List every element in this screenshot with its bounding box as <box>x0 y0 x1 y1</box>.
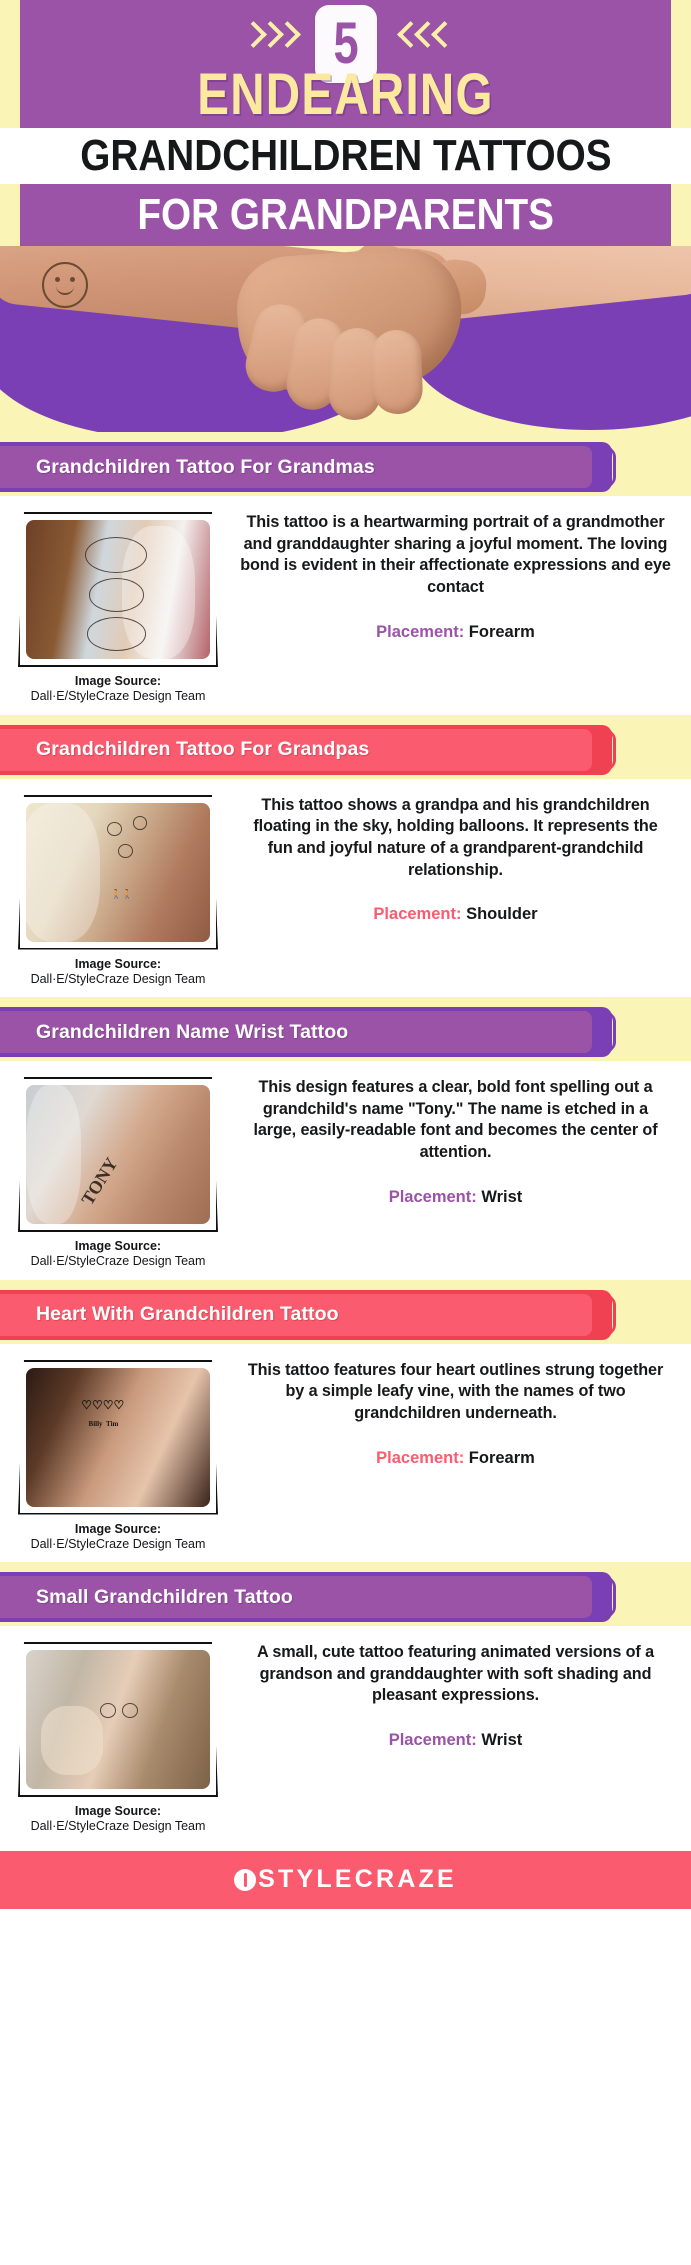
ribbon-tail-icon <box>592 442 616 492</box>
title-line-3-band: FOR GRANDPARENTS <box>20 184 671 246</box>
section-2-description: This tattoo shows a grandpa and his gran… <box>240 795 671 882</box>
handshake-illustration <box>0 246 691 432</box>
section-3-placement-value: Wrist <box>481 1188 522 1206</box>
infographic-page: 5 ENDEARING GRANDCHILDREN TATTOOS FOR GR… <box>0 0 691 2265</box>
section-5-text-column: A small, cute tattoo featuring animated … <box>232 1642 691 1750</box>
ribbon-tail-icon <box>592 1290 616 1340</box>
ribbon-tail-icon <box>592 1572 616 1622</box>
title-line-2: GRANDCHILDREN TATTOOS <box>80 134 611 178</box>
image-source-value: Dall·E/StyleCraze Design Team <box>18 1819 218 1834</box>
tattoo-section-4: Heart With Grandchildren Tattoo ♡♡♡♡ Bil… <box>0 1280 691 1563</box>
section-5-description: A small, cute tattoo featuring animated … <box>240 1642 671 1707</box>
tattoo-section-5: Small Grandchildren Tattoo Image Source:… <box>0 1562 691 1845</box>
title-line-2-band: GRANDCHILDREN TATTOOS <box>0 128 691 184</box>
section-4-description: This tattoo features four heart outlines… <box>240 1360 671 1425</box>
placement-label: Placement: <box>389 1188 477 1206</box>
section-5-photo-column: Image Source: Dall·E/StyleCraze Design T… <box>0 1642 232 1835</box>
section-5-banner: Small Grandchildren Tattoo <box>0 1562 691 1626</box>
section-4-text-column: This tattoo features four heart outlines… <box>232 1360 691 1468</box>
ribbon-tail-icon <box>592 1007 616 1057</box>
image-source-label: Image Source: <box>18 1522 218 1537</box>
section-1-photo <box>26 520 210 659</box>
title-line-1: ENDEARING <box>79 66 613 124</box>
image-source-label: Image Source: <box>18 674 218 689</box>
brand-name: STYLECRAZE <box>258 1865 457 1894</box>
section-3-banner: Grandchildren Name Wrist Tattoo <box>0 997 691 1061</box>
section-2-banner: Grandchildren Tattoo For Grandpas <box>0 715 691 779</box>
section-4-photo: ♡♡♡♡ Billy Tim <box>26 1368 210 1507</box>
chevrons-right-icon <box>242 21 293 51</box>
section-3-body: TONY Image Source: Dall·E/StyleCraze Des… <box>0 1061 691 1280</box>
section-3-photo: TONY <box>26 1085 210 1224</box>
section-1-body: Image Source: Dall·E/StyleCraze Design T… <box>0 496 691 715</box>
section-1-title: Grandchildren Tattoo For Grandmas <box>36 456 375 479</box>
section-5-title: Small Grandchildren Tattoo <box>36 1586 293 1609</box>
placement-label: Placement: <box>373 905 461 923</box>
section-5-placement-value: Wrist <box>481 1731 522 1749</box>
section-3-photo-frame: TONY <box>18 1077 218 1232</box>
image-source-value: Dall·E/StyleCraze Design Team <box>18 1254 218 1269</box>
section-1-photo-column: Image Source: Dall·E/StyleCraze Design T… <box>0 512 232 705</box>
image-source-value: Dall·E/StyleCraze Design Team <box>18 972 218 987</box>
placement-label: Placement: <box>389 1731 477 1749</box>
section-1-description: This tattoo is a heartwarming portrait o… <box>240 512 671 599</box>
smiley-face-tattoo-icon <box>42 262 88 308</box>
section-1-placement: Placement: Forearm <box>240 623 671 642</box>
section-3-title: Grandchildren Name Wrist Tattoo <box>36 1021 348 1044</box>
section-4-caption: Image Source: Dall·E/StyleCraze Design T… <box>18 1522 218 1553</box>
section-4-banner: Heart With Grandchildren Tattoo <box>0 1280 691 1344</box>
image-source-label: Image Source: <box>18 1239 218 1254</box>
section-1-photo-frame <box>18 512 218 667</box>
tattoo-section-1: Grandchildren Tattoo For Grandmas Image … <box>0 432 691 715</box>
section-2-photo-column: 🚶🚶 Image Source: Dall·E/StyleCraze Desig… <box>0 795 232 988</box>
section-4-photo-frame: ♡♡♡♡ Billy Tim <box>18 1360 218 1515</box>
tattoo-section-3: Grandchildren Name Wrist Tattoo TONY Ima… <box>0 997 691 1280</box>
stylecraze-logo-icon <box>234 1869 256 1891</box>
section-2-photo: 🚶🚶 <box>26 803 210 942</box>
infographic-header: 5 ENDEARING GRANDCHILDREN TATTOOS FOR GR… <box>0 0 691 432</box>
section-1-text-column: This tattoo is a heartwarming portrait o… <box>232 512 691 642</box>
section-5-placement: Placement: Wrist <box>240 1731 671 1750</box>
section-2-text-column: This tattoo shows a grandpa and his gran… <box>232 795 691 925</box>
image-source-value: Dall·E/StyleCraze Design Team <box>18 1537 218 1552</box>
footer-brand-bar: STYLECRAZE <box>0 1851 691 1909</box>
title-line-3: FOR GRANDPARENTS <box>137 193 554 237</box>
chevrons-left-icon <box>399 21 450 51</box>
section-3-photo-column: TONY Image Source: Dall·E/StyleCraze Des… <box>0 1077 232 1270</box>
section-3-text-column: This design features a clear, bold font … <box>232 1077 691 1207</box>
section-5-photo-frame <box>18 1642 218 1797</box>
placement-label: Placement: <box>376 623 464 641</box>
section-4-placement-value: Forearm <box>469 1449 535 1467</box>
section-2-placement: Placement: Shoulder <box>240 905 671 924</box>
section-2-photo-frame: 🚶🚶 <box>18 795 218 950</box>
image-source-label: Image Source: <box>18 1804 218 1819</box>
section-3-caption: Image Source: Dall·E/StyleCraze Design T… <box>18 1239 218 1270</box>
ribbon-tail-icon <box>592 725 616 775</box>
section-5-photo <box>26 1650 210 1789</box>
hero-image <box>0 246 691 432</box>
section-4-body: ♡♡♡♡ Billy Tim Image Source: Dall·E/Styl… <box>0 1344 691 1563</box>
section-4-photo-column: ♡♡♡♡ Billy Tim Image Source: Dall·E/Styl… <box>0 1360 232 1553</box>
tattoo-section-2: Grandchildren Tattoo For Grandpas 🚶🚶 Ima… <box>0 715 691 998</box>
image-source-value: Dall·E/StyleCraze Design Team <box>18 689 218 704</box>
section-1-banner: Grandchildren Tattoo For Grandmas <box>0 432 691 496</box>
section-4-title: Heart With Grandchildren Tattoo <box>36 1303 339 1326</box>
section-2-placement-value: Shoulder <box>466 905 538 923</box>
section-2-body: 🚶🚶 Image Source: Dall·E/StyleCraze Desig… <box>0 779 691 998</box>
section-4-placement: Placement: Forearm <box>240 1449 671 1468</box>
section-5-caption: Image Source: Dall·E/StyleCraze Design T… <box>18 1804 218 1835</box>
section-3-description: This design features a clear, bold font … <box>240 1077 671 1164</box>
image-source-label: Image Source: <box>18 957 218 972</box>
section-5-body: Image Source: Dall·E/StyleCraze Design T… <box>0 1626 691 1845</box>
section-2-caption: Image Source: Dall·E/StyleCraze Design T… <box>18 957 218 988</box>
placement-label: Placement: <box>376 1449 464 1467</box>
section-1-caption: Image Source: Dall·E/StyleCraze Design T… <box>18 674 218 705</box>
section-3-placement: Placement: Wrist <box>240 1188 671 1207</box>
header-badge-row: 5 <box>20 6 671 66</box>
section-1-placement-value: Forearm <box>469 623 535 641</box>
section-2-title: Grandchildren Tattoo For Grandpas <box>36 738 369 761</box>
